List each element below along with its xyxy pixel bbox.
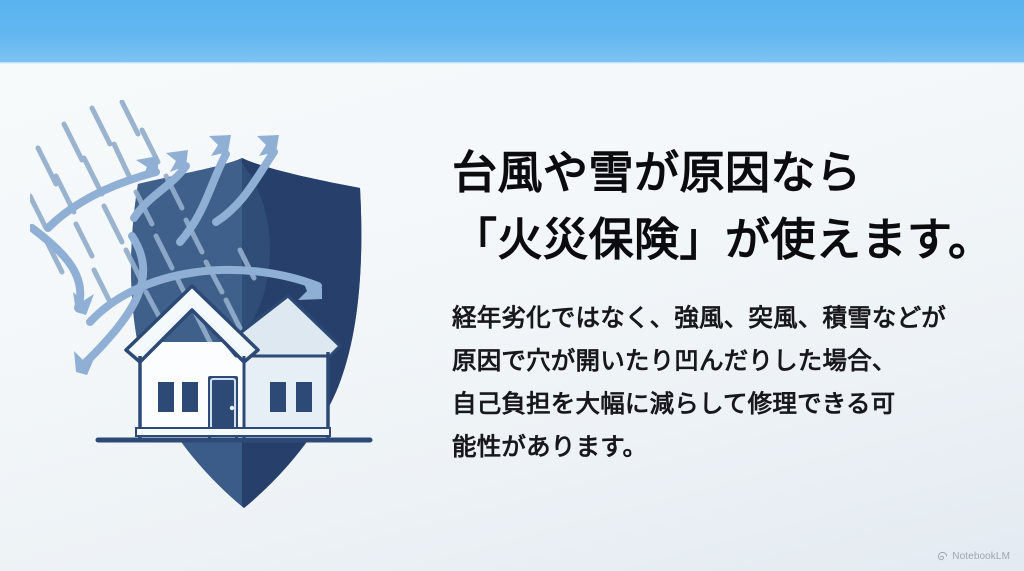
notebooklm-watermark: NotebookLM [937, 551, 1010, 562]
body-line-1: 経年劣化ではなく、強風、突風、積雪などが [452, 297, 997, 340]
shield-house-illustration [30, 100, 410, 520]
headline-line-1: 台風や雪が原因なら [452, 140, 997, 207]
notebooklm-logo-icon [937, 551, 948, 562]
notebooklm-label: NotebookLM [952, 551, 1010, 562]
slide-headline: 台風や雪が原因なら 「火災保険」が使えます。 [452, 140, 997, 273]
body-line-4: 能性があります。 [452, 426, 997, 469]
headline-line-2: 「火災保険」が使えます。 [452, 207, 997, 274]
slide-content-area: 台風や雪が原因なら 「火災保険」が使えます。 経年劣化ではなく、強風、突風、積雪… [0, 64, 1024, 571]
slide-canvas: 台風や雪が原因なら 「火災保険」が使えます。 経年劣化ではなく、強風、突風、積雪… [0, 0, 1024, 571]
top-sky-band [0, 0, 1024, 64]
body-line-3: 自己負担を大幅に減らして修理できる可 [452, 383, 997, 426]
arrow-heads-down [73, 292, 96, 375]
slide-body-text: 経年劣化ではなく、強風、突風、積雪などが 原因で穴が開いたり凹んだりした場合、 … [452, 273, 997, 469]
body-line-2: 原因で穴が開いたり凹んだりした場合、 [452, 340, 997, 383]
text-column: 台風や雪が原因なら 「火災保険」が使えます。 経年劣化ではなく、強風、突風、積雪… [452, 140, 997, 469]
